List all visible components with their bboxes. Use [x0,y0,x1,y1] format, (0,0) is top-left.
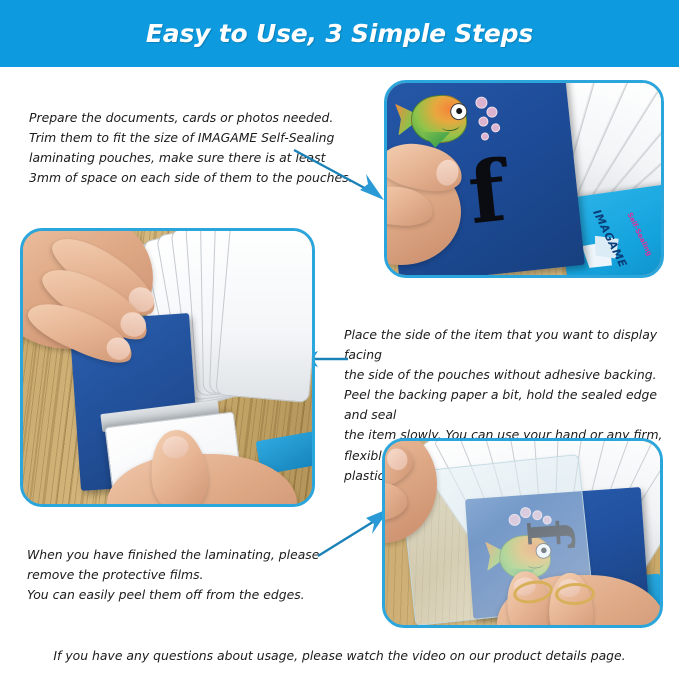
card-letter-f: f [465,149,510,236]
photo-step-1: IMAGAME Self-Sealing f [384,80,664,278]
fish-illustration [396,90,475,149]
photo-step-2 [20,228,315,507]
page-title: Easy to Use, 3 Simple Steps [146,19,533,48]
header-banner: Easy to Use, 3 Simple Steps [0,0,679,67]
product-subtitle-label: Self-Sealing [625,211,653,257]
step-3-instruction-text: When you have finished the laminating, p… [27,545,357,605]
footer-note: If you have any questions about usage, p… [0,648,679,663]
arrow-step-1-icon [292,148,392,208]
photo-step-3: f [382,438,663,628]
